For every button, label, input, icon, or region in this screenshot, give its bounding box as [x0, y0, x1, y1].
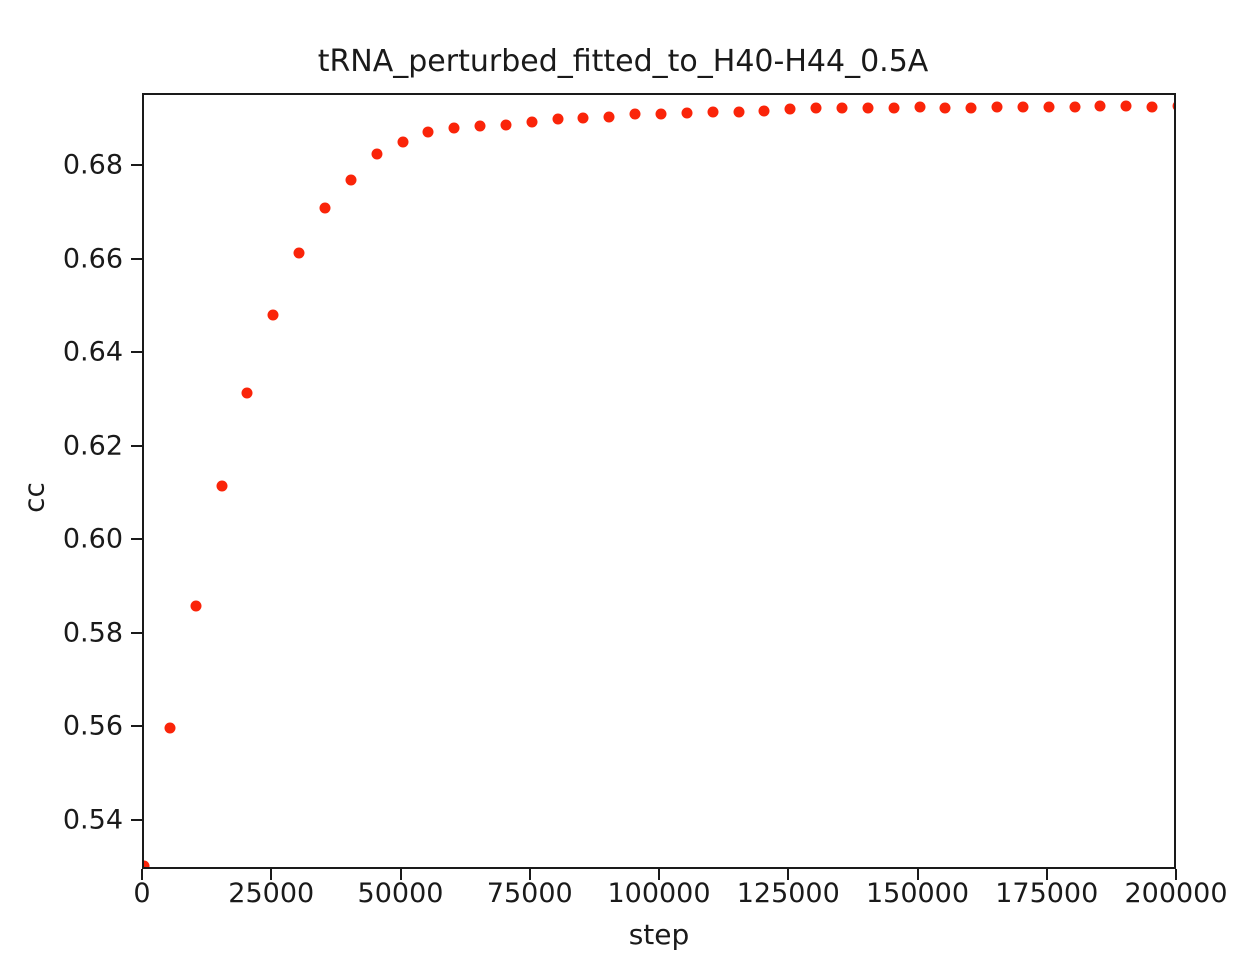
data-point	[423, 126, 434, 137]
data-point	[164, 722, 175, 733]
x-tick-mark	[658, 869, 660, 880]
x-tick-mark	[529, 869, 531, 880]
data-point	[759, 106, 770, 117]
x-tick-label: 200000	[1124, 878, 1227, 909]
data-point	[1017, 101, 1028, 112]
data-point	[216, 481, 227, 492]
y-tick-label: 0.68	[63, 150, 123, 181]
data-point	[144, 861, 150, 867]
data-point	[190, 600, 201, 611]
y-tick-mark	[131, 351, 142, 353]
data-point	[1147, 101, 1158, 112]
x-tick-label: 0	[133, 878, 150, 909]
y-tick-mark	[131, 725, 142, 727]
data-point	[449, 122, 460, 133]
x-tick-label: 50000	[358, 878, 444, 909]
x-tick-mark	[400, 869, 402, 880]
data-point	[630, 109, 641, 120]
x-tick-label: 100000	[607, 878, 710, 909]
data-point	[294, 248, 305, 259]
data-point	[966, 103, 977, 114]
x-tick-mark	[270, 869, 272, 880]
data-point	[268, 310, 279, 321]
y-tick-mark	[131, 819, 142, 821]
data-point	[526, 116, 537, 127]
data-point	[888, 102, 899, 113]
data-point	[656, 108, 667, 119]
y-tick-label: 0.62	[63, 430, 123, 461]
plot-area	[142, 93, 1176, 869]
data-point	[1121, 101, 1132, 112]
data-point	[733, 106, 744, 117]
data-point	[578, 113, 589, 124]
y-tick-mark	[131, 538, 142, 540]
x-tick-label: 175000	[995, 878, 1098, 909]
y-tick-mark	[131, 164, 142, 166]
y-tick-mark	[131, 445, 142, 447]
data-point	[242, 388, 253, 399]
data-point	[707, 106, 718, 117]
page-title: tRNA_perturbed_fitted_to_H40-H44_0.5A	[0, 44, 1246, 79]
data-point	[1095, 101, 1106, 112]
x-tick-mark	[141, 869, 143, 880]
x-axis-label: step	[142, 918, 1176, 951]
data-point	[397, 136, 408, 147]
x-tick-mark	[1046, 869, 1048, 880]
y-tick-label: 0.56	[63, 711, 123, 742]
data-point	[992, 102, 1003, 113]
y-tick-label: 0.66	[63, 243, 123, 274]
data-point	[681, 107, 692, 118]
x-tick-label: 150000	[866, 878, 969, 909]
y-tick-mark	[131, 632, 142, 634]
data-point	[862, 102, 873, 113]
x-tick-label: 75000	[487, 878, 573, 909]
y-tick-label: 0.64	[63, 337, 123, 368]
y-tick-label: 0.60	[63, 524, 123, 555]
data-point	[371, 149, 382, 160]
data-point	[1069, 101, 1080, 112]
data-point	[345, 174, 356, 185]
x-tick-mark	[917, 869, 919, 880]
data-point	[1173, 101, 1175, 112]
figure-canvas: tRNA_perturbed_fitted_to_H40-H44_0.5A 0.…	[0, 0, 1246, 965]
data-point	[319, 202, 330, 213]
data-point	[475, 121, 486, 132]
data-point	[811, 102, 822, 113]
x-tick-mark	[1175, 869, 1177, 880]
y-tick-label: 0.54	[63, 804, 123, 835]
scatter-series	[144, 95, 1174, 867]
y-tick-label: 0.58	[63, 617, 123, 648]
data-point	[1043, 101, 1054, 112]
data-point	[500, 120, 511, 131]
x-tick-mark	[787, 869, 789, 880]
data-point	[604, 111, 615, 122]
x-tick-label: 25000	[228, 878, 314, 909]
data-point	[940, 102, 951, 113]
y-tick-mark	[131, 258, 142, 260]
data-point	[836, 102, 847, 113]
y-axis-label: cc	[18, 448, 51, 548]
data-point	[552, 114, 563, 125]
data-point	[785, 104, 796, 115]
x-tick-label: 125000	[737, 878, 840, 909]
data-point	[914, 102, 925, 113]
